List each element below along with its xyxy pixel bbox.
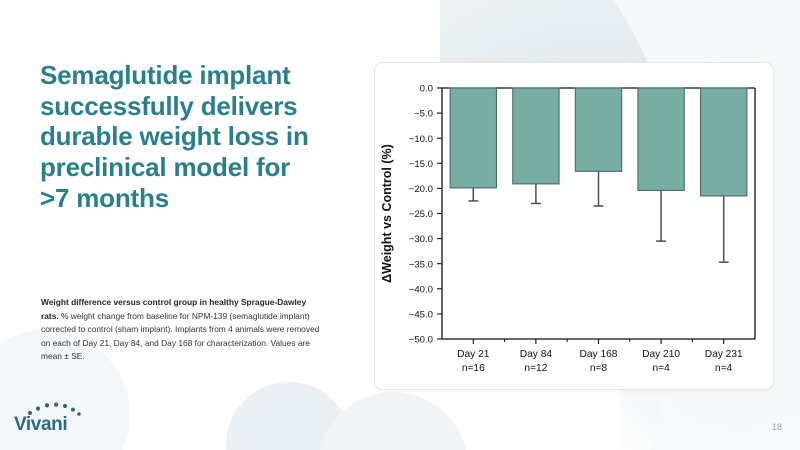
bar <box>575 88 621 171</box>
figure-caption: Weight difference versus control group i… <box>41 296 323 364</box>
y-axis-tick-label: −5.0 <box>414 109 433 120</box>
title-line-5: >7 months <box>40 183 340 214</box>
bar-group <box>638 88 684 241</box>
bar-group <box>513 88 559 203</box>
y-axis-tick-label: −50.0 <box>409 335 433 346</box>
bar <box>638 88 684 190</box>
y-axis-tick-label: −35.0 <box>409 259 433 270</box>
background-blob-center <box>226 382 352 450</box>
x-axis-n-label: n=4 <box>715 363 733 374</box>
background-blob-center-right <box>318 392 468 450</box>
x-axis-n-label: n=8 <box>590 363 608 374</box>
x-axis-n-label: n=4 <box>652 363 670 374</box>
caption-body: % weight change from baseline for NPM-13… <box>41 311 319 362</box>
x-axis-category-label: Day 21 <box>457 349 490 360</box>
bar <box>513 88 559 184</box>
vivani-logo: Vivani <box>14 402 90 436</box>
y-axis-tick-label: −20.0 <box>409 184 433 195</box>
y-axis-tick-label: −10.0 <box>409 134 433 145</box>
page-number: 18 <box>772 422 782 432</box>
x-axis-category-label: Day 231 <box>705 349 743 360</box>
chart-card: ΔWeight vs Control (%)0.0−5.0−10.0−15.0−… <box>374 62 774 390</box>
y-axis-tick-label: −30.0 <box>409 234 433 245</box>
y-axis-tick-label: −15.0 <box>409 159 433 170</box>
page-title: Semaglutide implant successfully deliver… <box>40 60 340 213</box>
x-axis-n-label: n=16 <box>462 363 485 374</box>
y-axis-tick-label: −45.0 <box>409 310 433 321</box>
bar-group <box>450 88 496 201</box>
bar-group <box>575 88 621 206</box>
bar-chart: ΔWeight vs Control (%)0.0−5.0−10.0−15.0−… <box>375 63 773 389</box>
bar <box>450 88 496 188</box>
title-line-1: Semaglutide implant <box>40 60 340 91</box>
bar-group <box>701 88 747 262</box>
bar <box>701 88 747 196</box>
slide-root: Semaglutide implant successfully deliver… <box>0 0 800 450</box>
x-axis-category-label: Day 210 <box>642 349 680 360</box>
x-axis-n-label: n=12 <box>524 363 547 374</box>
title-line-2: successfully delivers <box>40 91 340 122</box>
y-axis-label: ΔWeight vs Control (%) <box>380 144 394 283</box>
logo-wordmark: Vivani <box>14 414 67 436</box>
title-line-3: durable weight loss in <box>40 121 340 152</box>
x-axis-category-label: Day 168 <box>580 349 618 360</box>
y-axis-tick-label: −25.0 <box>409 209 433 220</box>
x-axis-category-label: Day 84 <box>520 349 553 360</box>
y-axis-tick-label: 0.0 <box>420 84 433 95</box>
title-line-4: preclinical model for <box>40 152 340 183</box>
y-axis-tick-label: −40.0 <box>409 284 433 295</box>
